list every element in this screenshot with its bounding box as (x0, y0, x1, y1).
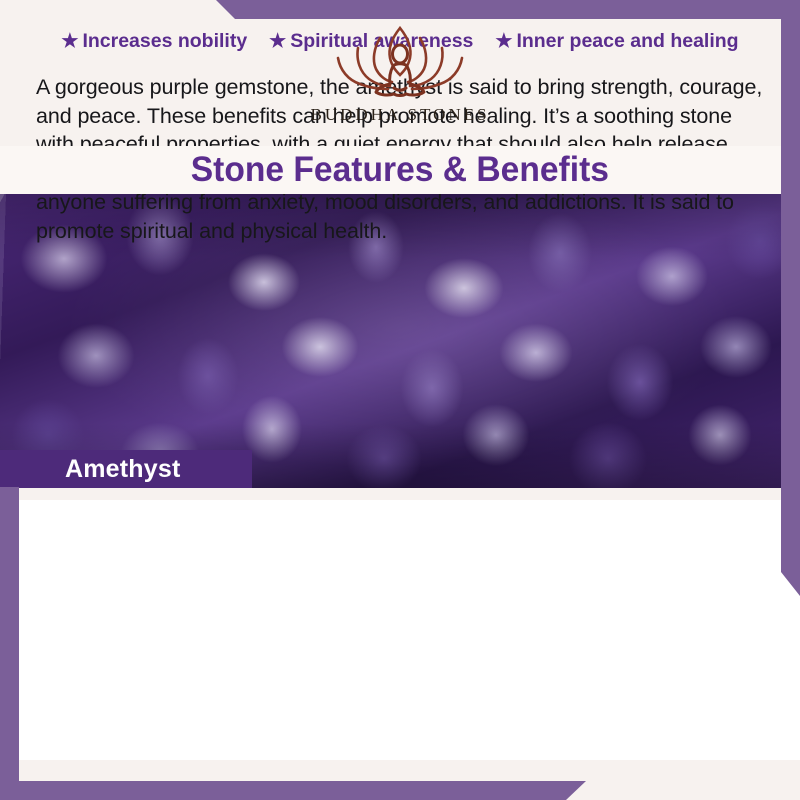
section-title-band: Stone Features & Benefits (0, 146, 800, 194)
brand-name: BUDDHA STONES (311, 105, 490, 125)
frame-border-left (0, 487, 19, 800)
frame-border-right (781, 0, 800, 596)
stone-name-banner: Amethyst (0, 450, 252, 488)
brand-logo-block: BUDDHA STONES (0, 0, 800, 146)
description-panel (0, 488, 800, 800)
lotus-meditation-figure-icon (314, 22, 486, 100)
stone-name-label: Amethyst (65, 455, 181, 484)
page-title: Stone Features & Benefits (191, 150, 609, 190)
product-infographic-poster: BUDDHA STONES Stone Features & Benefits … (0, 0, 800, 800)
